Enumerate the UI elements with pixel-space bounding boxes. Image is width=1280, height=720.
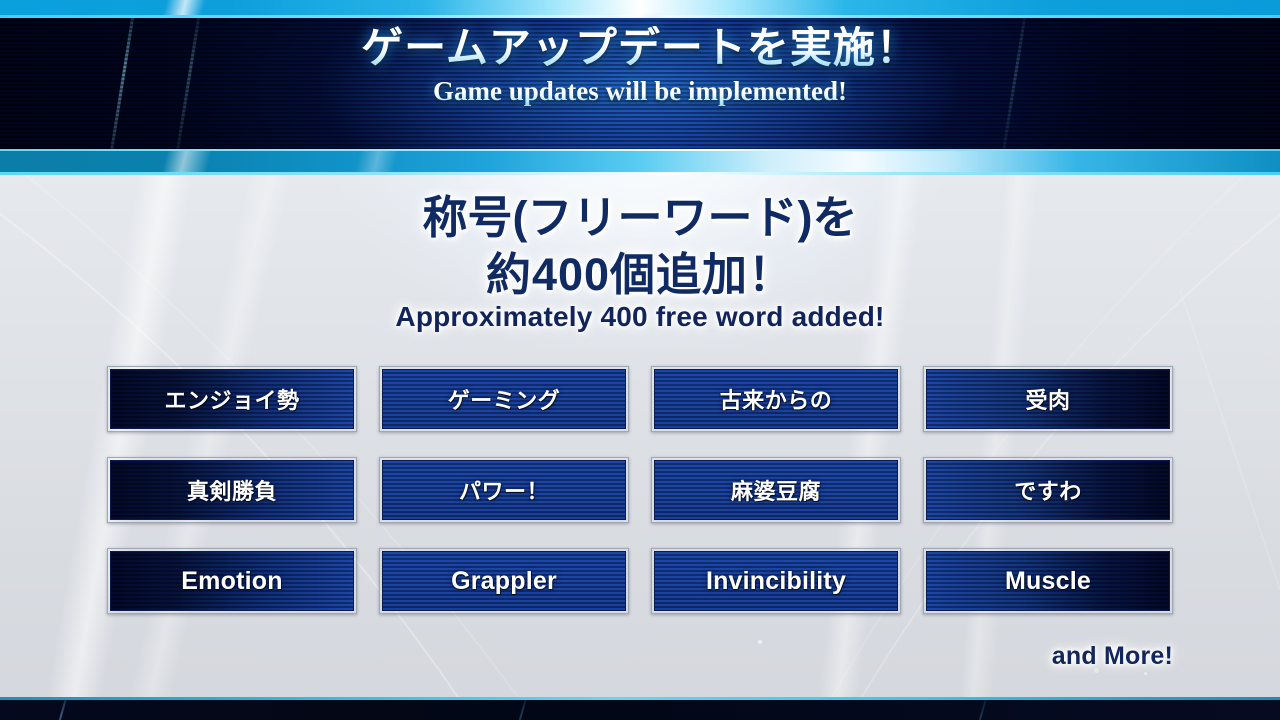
headline-english: Approximately 400 free word added! [0, 301, 1280, 333]
free-word-tile-grid: エンジョイ勢 ゲーミング 古来からの 受肉 真剣勝負 パワー！ 麻婆豆腐 ですわ… [107, 366, 1173, 614]
word-tile[interactable]: パワー！ [379, 457, 629, 523]
headline-jp-line1: 称号(フリーワード)を [0, 190, 1280, 247]
word-tile-label: 古来からの [720, 383, 833, 415]
word-tile-label: Invincibility [706, 567, 846, 596]
and-more-label: and More! [1052, 642, 1173, 671]
word-tile[interactable]: ですわ [923, 457, 1173, 523]
bottom-light-streak [972, 700, 990, 720]
word-tile[interactable]: Grappler [379, 548, 629, 614]
word-tile-label: Grappler [451, 567, 557, 596]
mid-cyan-divider-bottom [0, 172, 1280, 175]
word-tile-label: 麻婆豆腐 [731, 474, 821, 506]
update-announcement-screen: ゲームアップデートを実施！ Game updates will be imple… [0, 0, 1280, 720]
word-tile-label: Emotion [181, 567, 282, 596]
word-tile[interactable]: Emotion [107, 548, 357, 614]
word-tile[interactable]: ゲーミング [379, 366, 629, 432]
bottom-light-streak [512, 700, 530, 720]
word-tile-label: ですわ [1014, 474, 1082, 506]
word-tile-label: 真剣勝負 [187, 474, 277, 506]
banner-title-jp: ゲームアップデートを実施！ [361, 26, 919, 73]
banner-title-en: Game updates will be implemented! [433, 77, 847, 107]
title-banner-text: ゲームアップデートを実施！ Game updates will be imple… [0, 0, 1280, 133]
word-tile[interactable]: エンジョイ勢 [107, 366, 357, 432]
bottom-navy-band [0, 700, 1280, 720]
word-tile[interactable]: 真剣勝負 [107, 457, 357, 523]
word-tile[interactable]: 麻婆豆腐 [651, 457, 901, 523]
word-tile[interactable]: 古来からの [651, 366, 901, 432]
mid-blue-band [0, 151, 1280, 172]
word-tile-label: Muscle [1005, 567, 1091, 596]
headline-jp-line2: 約400個追加！ [0, 247, 1280, 304]
word-tile-label: ゲーミング [448, 383, 561, 415]
bottom-light-streak [52, 700, 70, 720]
headline-japanese: 称号(フリーワード)を 約400個追加！ [0, 190, 1280, 303]
word-tile[interactable]: Invincibility [651, 548, 901, 614]
word-tile[interactable]: 受肉 [923, 366, 1173, 432]
word-tile[interactable]: Muscle [923, 548, 1173, 614]
word-tile-label: 受肉 [1025, 383, 1070, 415]
word-tile-label: パワー！ [459, 474, 549, 506]
word-tile-label: エンジョイ勢 [164, 383, 299, 415]
